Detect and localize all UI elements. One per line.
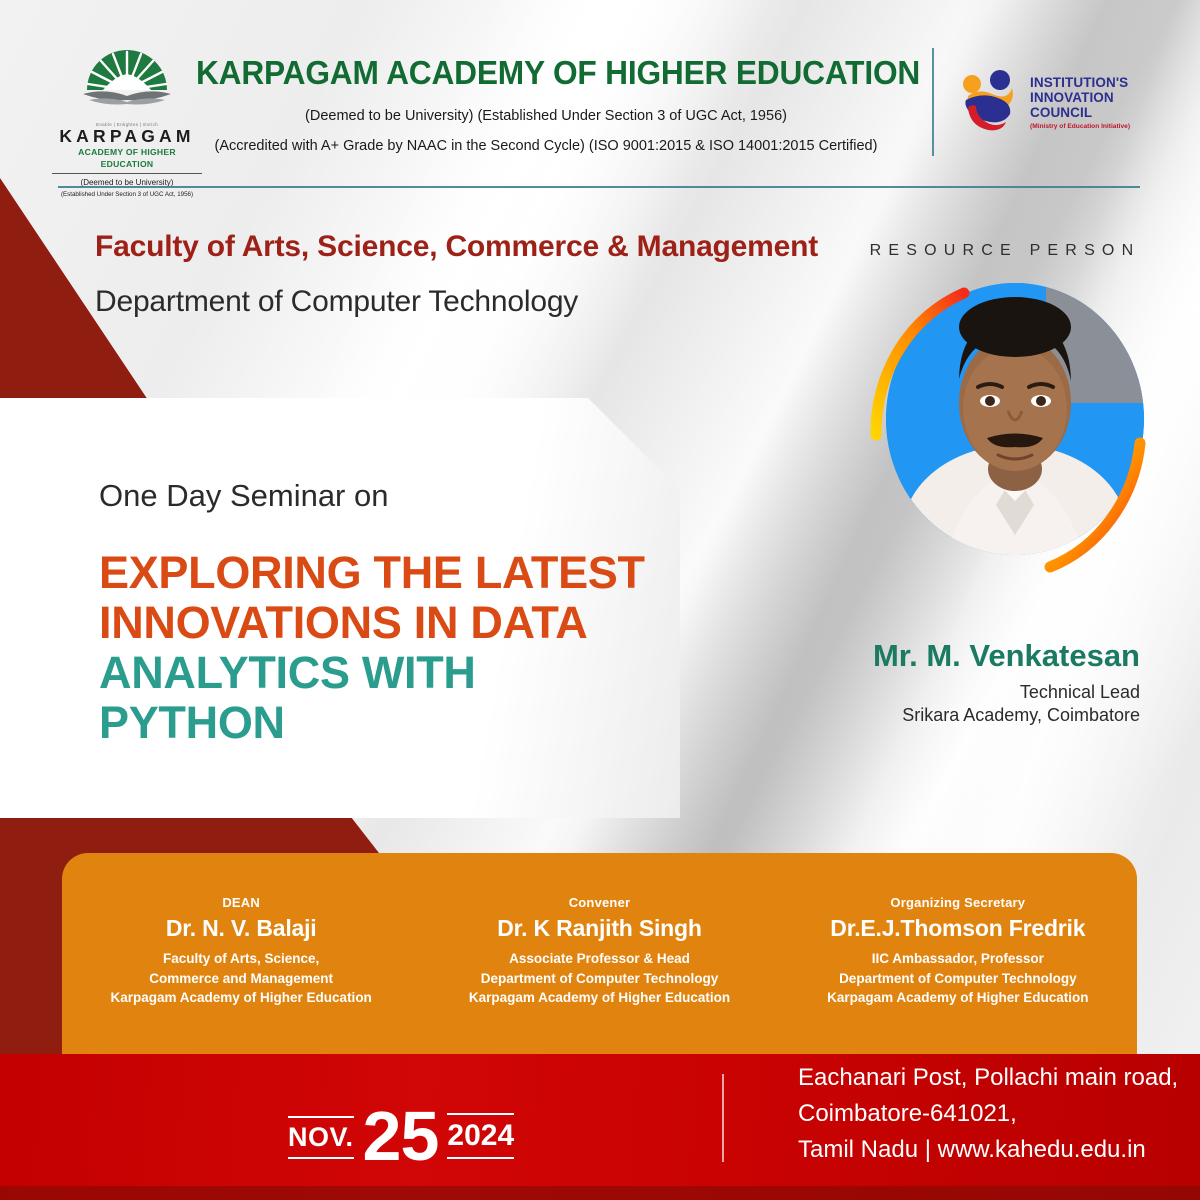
university-subtitle-2: (Accredited with A+ Grade by NAAC in the… <box>196 138 896 154</box>
university-subtitle-1: (Deemed to be University) (Established U… <box>196 108 896 124</box>
organizer-name: Dr.E.J.Thomson Fredrik <box>779 915 1137 942</box>
organizer-affiliation: IIC Ambassador, Professor Department of … <box>779 949 1137 1008</box>
address-line-1: Eachanari Post, Pollachi main road, <box>798 1060 1178 1096</box>
organizer-affiliation-line: Commerce and Management <box>62 969 420 989</box>
iic-line-2: INNOVATION <box>1030 90 1130 105</box>
poster-root: Enable | Enlighten | Enrich KARPAGAM ACA… <box>0 0 1200 1200</box>
organizer-column: Convener Dr. K Ranjith Singh Associate P… <box>420 853 778 1060</box>
footer-vertical-divider <box>722 1074 724 1162</box>
department-name: Department of Computer Technology <box>95 285 578 319</box>
organizer-affiliation-line: Associate Professor & Head <box>420 949 778 969</box>
resource-person-label: RESOURCE PERSON <box>860 242 1150 260</box>
organizer-name: Dr. K Ranjith Singh <box>420 915 778 942</box>
organizer-affiliation-line: Department of Computer Technology <box>420 969 778 989</box>
seminar-title-line-3: ANALYTICS WITH PYTHON <box>99 648 659 748</box>
faculty-name: Faculty of Arts, Science, Commerce & Man… <box>95 230 818 264</box>
event-day: 25 <box>363 1106 439 1168</box>
event-month: NOV. <box>288 1116 354 1159</box>
event-date: NOV. 25 2024 <box>288 1106 514 1168</box>
organizer-affiliation: Faculty of Arts, Science, Commerce and M… <box>62 949 420 1008</box>
header-divider <box>58 186 1140 188</box>
photo-accent-arcs <box>868 275 1148 575</box>
iic-ministry: (Ministry of Education Initiative) <box>1030 123 1130 130</box>
iic-emblem-icon <box>958 68 1022 138</box>
karpagam-logo: Enable | Enlighten | Enrich KARPAGAM ACA… <box>52 48 202 200</box>
address-line-3: Tamil Nadu | www.kahedu.edu.in <box>798 1132 1178 1168</box>
university-title: KARPAGAM ACADEMY OF HIGHER EDUCATION <box>196 54 868 92</box>
organizer-affiliation-line: Karpagam Academy of Higher Education <box>420 988 778 1008</box>
iic-line-1: INSTITUTION'S <box>1030 75 1130 90</box>
logo-tagline: ACADEMY OF HIGHER EDUCATION <box>52 146 202 175</box>
iic-line-3: COUNCIL <box>1030 105 1130 120</box>
organizer-affiliation-line: IIC Ambassador, Professor <box>779 949 1137 969</box>
logo-established: (Established Under Section 3 of UGC Act,… <box>52 190 202 200</box>
organizer-affiliation-line: Karpagam Academy of Higher Education <box>62 988 420 1008</box>
organizer-role: Organizing Secretary <box>779 895 1137 910</box>
organizer-affiliation-line: Department of Computer Technology <box>779 969 1137 989</box>
resource-person-name: Mr. M. Venkatesan <box>820 638 1140 674</box>
organizer-role: Convener <box>420 895 778 910</box>
seminar-title-line-2: INNOVATIONS IN DATA <box>99 598 659 648</box>
seminar-title: EXPLORING THE LATEST INNOVATIONS IN DATA… <box>99 548 659 748</box>
event-year: 2024 <box>447 1113 514 1159</box>
footer-bottom-shadow <box>0 1186 1200 1200</box>
venue-address: Eachanari Post, Pollachi main road, Coim… <box>798 1060 1178 1168</box>
organizer-role: DEAN <box>62 895 420 910</box>
iic-logo: INSTITUTION'S INNOVATION COUNCIL (Minist… <box>958 58 1148 148</box>
organizer-column: DEAN Dr. N. V. Balaji Faculty of Arts, S… <box>62 853 420 1060</box>
resource-person-organization: Srikara Academy, Coimbatore <box>820 704 1140 727</box>
organizer-column: Organizing Secretary Dr.E.J.Thomson Fred… <box>779 853 1137 1060</box>
resource-person-details: Technical Lead Srikara Academy, Coimbato… <box>820 681 1140 728</box>
organizers-panel: DEAN Dr. N. V. Balaji Faculty of Arts, S… <box>62 853 1137 1060</box>
seminar-pretitle: One Day Seminar on <box>99 478 388 514</box>
organizer-name: Dr. N. V. Balaji <box>62 915 420 942</box>
header-vertical-divider <box>932 48 934 156</box>
resource-person-photo <box>868 275 1148 575</box>
organizer-affiliation-line: Faculty of Arts, Science, <box>62 949 420 969</box>
logo-name: KARPAGAM <box>52 128 202 146</box>
organizer-affiliation-line: Karpagam Academy of Higher Education <box>779 988 1137 1008</box>
karpagam-logo-icon <box>73 48 181 120</box>
address-line-2: Coimbatore-641021, <box>798 1096 1178 1132</box>
resource-person-role: Technical Lead <box>820 681 1140 704</box>
seminar-title-line-1: EXPLORING THE LATEST <box>99 548 659 598</box>
organizer-affiliation: Associate Professor & Head Department of… <box>420 949 778 1008</box>
